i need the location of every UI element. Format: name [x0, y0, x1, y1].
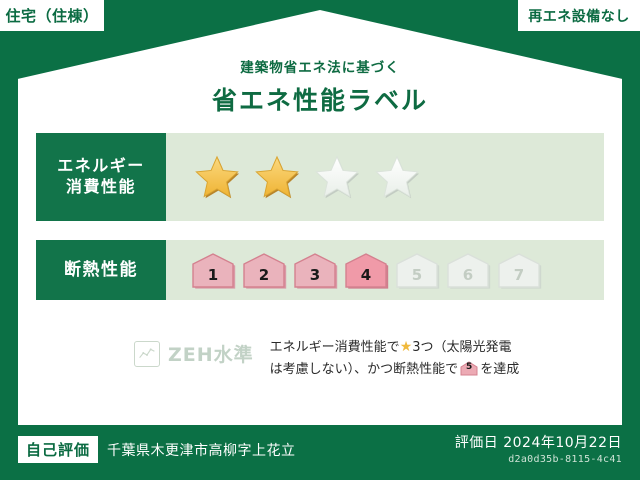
insulation-level-6: 6 [445, 251, 491, 289]
property-address: 千葉県木更津市高柳字上花立 [107, 440, 296, 460]
insulation-performance-row: 断熱性能 1234567 [36, 240, 604, 300]
inline-rank-number: 5 [460, 361, 478, 376]
zeh-mark: ZEH水準 [36, 332, 254, 367]
star-rating [166, 154, 420, 200]
inline-star-icon: ★ [400, 339, 413, 355]
insulation-level-5: 5 [394, 251, 440, 289]
star-empty-icon [374, 154, 420, 200]
inline-rank-badge: 5 [460, 361, 478, 376]
zeh-mark-icon [134, 341, 160, 367]
level-number: 1 [208, 266, 218, 289]
footer-left-group: 自己評価 千葉県木更津市高柳字上花立 [18, 436, 296, 463]
zeh-description: エネルギー消費性能で★3つ（太陽光発電は考慮しない）、かつ断熱性能で 5 を達成 [254, 332, 604, 381]
energy-performance-label-box: エネルギー 消費性能 [36, 133, 166, 221]
level-number: 2 [259, 266, 269, 289]
title-subtitle: 建築物省エネ法に基づく [0, 56, 640, 76]
insulation-label-text: 断熱性能 [64, 259, 138, 281]
star-filled-icon [254, 154, 300, 200]
energy-label-line2: 消費性能 [66, 177, 136, 198]
footer-right-group: 評価日 2024年10月22日 d2a0d35b-8115-4c41 [455, 432, 622, 465]
energy-rating-content [166, 154, 604, 200]
footer: 自己評価 千葉県木更津市高柳字上花立 評価日 2024年10月22日 d2a0d… [0, 426, 640, 480]
zeh-desc-part4: を達成 [480, 362, 519, 377]
insulation-level-3: 3 [292, 251, 338, 289]
insulation-level-7: 7 [496, 251, 542, 289]
energy-performance-label: 住宅（住棟） 再エネ設備なし 建築物省エネ法に基づく 省エネ性能ラベル エネルギ… [0, 0, 640, 480]
insulation-level-2: 2 [241, 251, 287, 289]
self-evaluation-badge: 自己評価 [18, 436, 98, 463]
building-type-tab: 住宅（住棟） [0, 0, 104, 31]
insulation-rating-content: 1234567 [166, 251, 604, 289]
insulation-level-scale: 1234567 [166, 251, 542, 289]
level-number: 5 [412, 266, 422, 289]
zeh-desc-part2: 3つ（太陽光発電 [412, 340, 511, 355]
zeh-desc-part1: エネルギー消費性能で [270, 340, 400, 355]
energy-performance-row: エネルギー 消費性能 [36, 133, 604, 221]
zeh-desc-part3: は考慮しない）、かつ断熱性能で [270, 362, 459, 377]
insulation-performance-label-box: 断熱性能 [36, 240, 166, 300]
level-number: 7 [514, 266, 524, 289]
document-id: d2a0d35b-8115-4c41 [455, 454, 622, 465]
evaluation-date: 評価日 2024年10月22日 [455, 432, 622, 452]
insulation-level-4: 4 [343, 251, 389, 289]
insulation-level-1: 1 [190, 251, 236, 289]
star-empty-icon [314, 154, 360, 200]
level-number: 6 [463, 266, 473, 289]
level-number: 3 [310, 266, 320, 289]
energy-label-line1: エネルギー [57, 156, 145, 177]
zeh-standard-section: ZEH水準 エネルギー消費性能で★3つ（太陽光発電は考慮しない）、かつ断熱性能で… [36, 332, 604, 392]
title-block: 建築物省エネ法に基づく 省エネ性能ラベル [0, 56, 640, 117]
renewable-energy-tab: 再エネ設備なし [518, 0, 640, 31]
page-title: 省エネ性能ラベル [0, 81, 640, 117]
star-filled-icon [194, 154, 240, 200]
zeh-label: ZEH水準 [168, 340, 254, 367]
level-number: 4 [361, 266, 371, 289]
